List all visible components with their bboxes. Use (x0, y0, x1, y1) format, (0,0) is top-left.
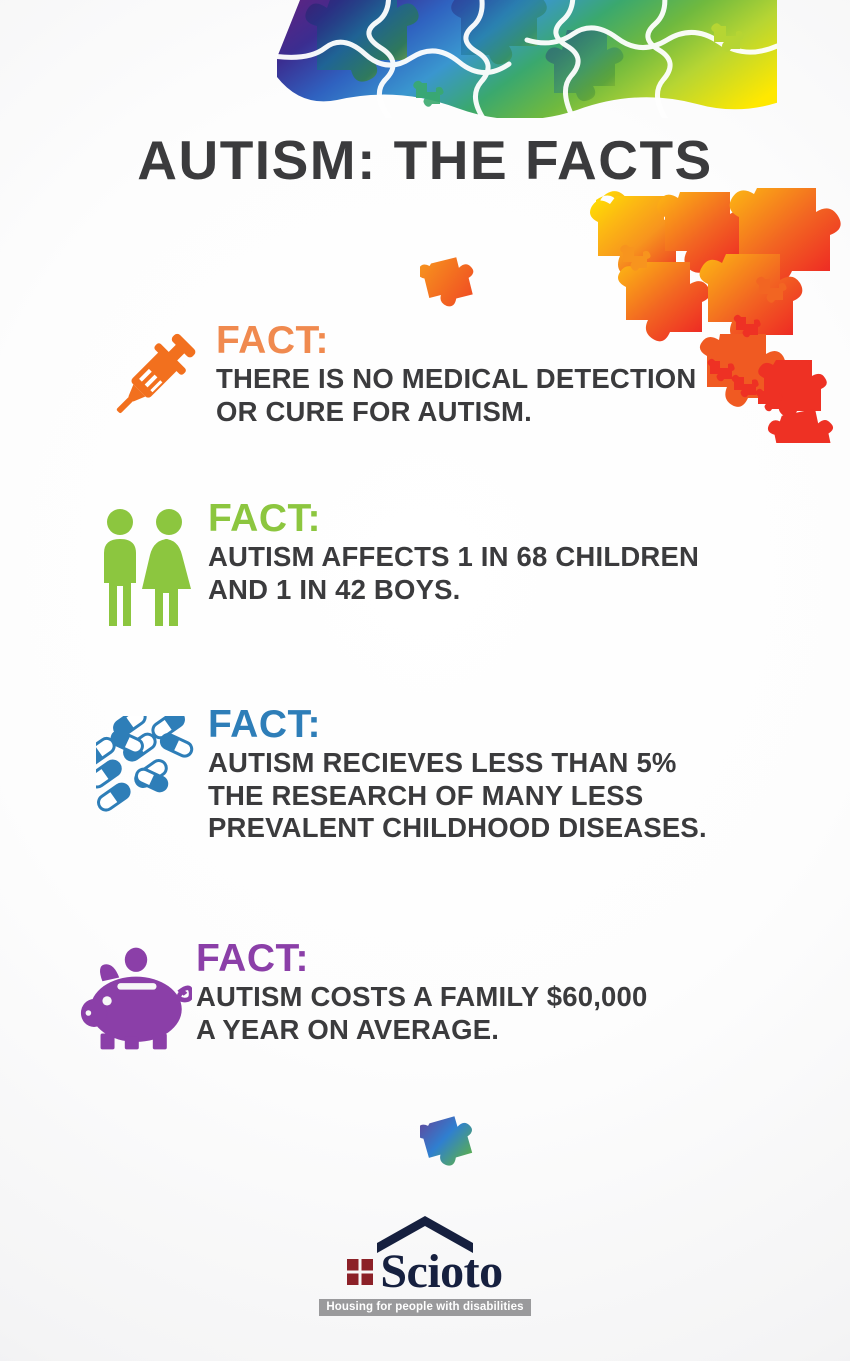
logo-wordmark: Scioto (347, 1248, 502, 1296)
fact-label-2: FACT: (208, 500, 802, 538)
fact-label-4: FACT: (196, 940, 795, 978)
orange-puzzle-piece (420, 248, 492, 314)
fact-item-4: FACT: AUTISM COSTS A FAMILY $60,000 A YE… (80, 940, 795, 1054)
logo-tagline: Housing for people with disabilities (319, 1299, 530, 1316)
fact-item-2: FACT: AUTISM AFFECTS 1 IN 68 CHILDREN AN… (92, 500, 802, 628)
man-woman-icon (92, 500, 204, 628)
fact-text-3: AUTISM RECIEVES LESS THAN 5% THE RESEARC… (208, 747, 807, 844)
logo-name: Scioto (380, 1248, 502, 1296)
syringe-icon (100, 322, 212, 422)
rainbow-puzzle-banner (277, 0, 777, 118)
blue-green-puzzle-piece (420, 1108, 490, 1172)
fact-item-1: FACT: THERE IS NO MEDICAL DETECTION OR C… (100, 322, 800, 428)
infographic-poster: AUTISM: THE FACTS (0, 0, 850, 1361)
page-title: AUTISM: THE FACTS (0, 128, 850, 192)
fact-label-1: FACT: (216, 322, 800, 360)
fact-text-2: AUTISM AFFECTS 1 IN 68 CHILDREN AND 1 IN… (208, 541, 802, 606)
window-grid-icon (347, 1259, 373, 1285)
piggy-bank-icon (80, 940, 192, 1054)
pills-icon (92, 706, 204, 812)
footer-logo: Scioto Housing for people with disabilit… (0, 1212, 850, 1316)
fact-item-3: FACT: AUTISM RECIEVES LESS THAN 5% THE R… (92, 706, 807, 845)
fact-label-3: FACT: (208, 706, 807, 744)
fact-text-1: THERE IS NO MEDICAL DETECTION OR CURE FO… (216, 363, 800, 428)
fact-text-4: AUTISM COSTS A FAMILY $60,000 A YEAR ON … (196, 981, 795, 1046)
